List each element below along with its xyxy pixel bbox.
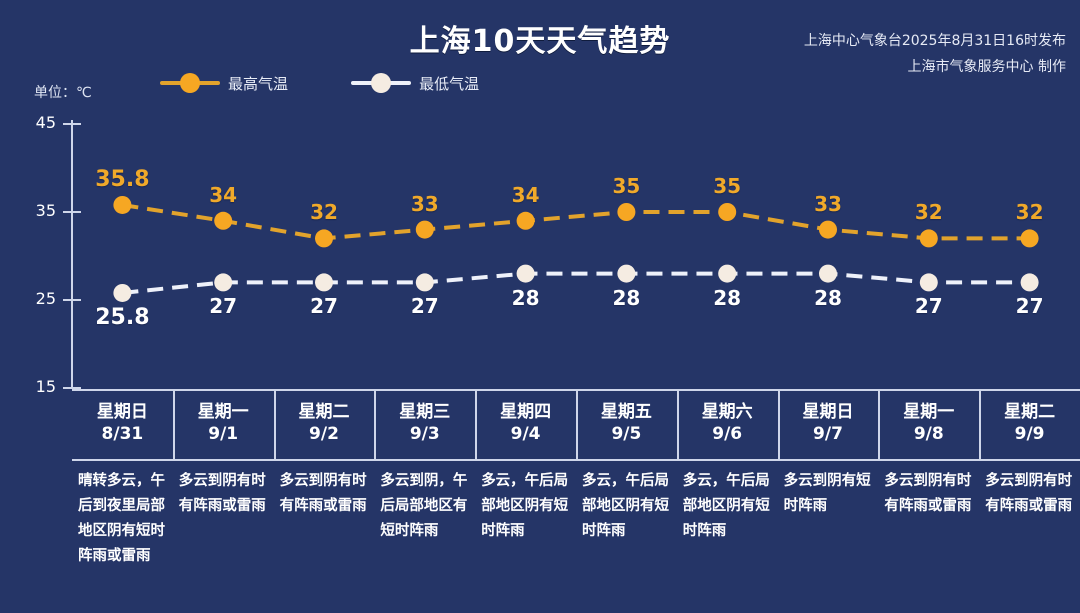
y-axis-tick-label: 25 [16,289,56,308]
point-value-min: 27 [385,294,465,318]
weekday-label: 星期三 [374,397,475,422]
point-value-min: 25.8 [82,305,162,330]
point-value-max: 35 [687,174,767,198]
point-value-max: 32 [990,200,1070,224]
forecast-column[interactable]: 星期一9/8多云到阴有时有阵雨或雷雨 [878,391,979,613]
data-point-max[interactable] [517,212,535,230]
weekday-label: 星期六 [677,397,778,422]
weekday-label: 星期二 [274,397,375,422]
data-point-max[interactable] [1021,229,1039,247]
weekday-label: 星期一 [878,397,979,422]
data-point-max[interactable] [315,229,333,247]
weather-description: 晴转多云，午后到夜里局部地区阴有短时阵雨或雷雨 [78,469,168,569]
data-point-max[interactable] [214,212,232,230]
weekday-label: 星期日 [778,397,879,422]
date-label: 9/5 [576,424,677,444]
point-value-min: 27 [990,294,1070,318]
point-value-max: 34 [486,183,566,207]
date-label: 9/2 [274,424,375,444]
data-point-max[interactable] [819,221,837,239]
y-axis-tick-label: 45 [16,113,56,132]
point-value-min: 28 [687,286,767,310]
data-point-min[interactable] [214,273,232,291]
point-value-min: 27 [889,294,969,318]
point-value-max: 33 [788,192,868,216]
date-label: 9/3 [374,424,475,444]
date-label: 9/8 [878,424,979,444]
date-label: 9/4 [475,424,576,444]
y-axis-tick-label: 15 [16,377,56,396]
weekday-label: 星期四 [475,397,576,422]
weather-trend-chart: 上海10天天气趋势 上海中心气象台2025年8月31日16时发布 上海市气象服务… [0,0,1080,613]
date-label: 8/31 [72,424,173,444]
point-value-max: 34 [183,183,263,207]
point-value-max: 35.8 [82,167,162,192]
data-point-min[interactable] [718,265,736,283]
date-label: 9/1 [173,424,274,444]
date-label: 9/7 [778,424,879,444]
weekday-label: 星期一 [173,397,274,422]
weather-description: 多云，午后局部地区阴有短时阵雨 [481,469,571,544]
data-point-min[interactable] [517,265,535,283]
point-value-min: 28 [486,286,566,310]
forecast-column[interactable]: 星期三9/3多云到阴，午后局部地区有短时阵雨 [374,391,475,613]
weather-description: 多云到阴有时有阵雨或雷雨 [179,469,269,519]
data-point-min[interactable] [1021,273,1039,291]
y-axis-tick-label: 35 [16,201,56,220]
data-point-max[interactable] [718,203,736,221]
data-point-max[interactable] [416,221,434,239]
weather-description: 多云到阴有时有阵雨或雷雨 [884,469,974,519]
weather-description: 多云，午后局部地区阴有短时阵雨 [683,469,773,544]
forecast-column[interactable]: 星期四9/4多云，午后局部地区阴有短时阵雨 [475,391,576,613]
weather-description: 多云到阴有短时阵雨 [784,469,874,519]
data-point-min[interactable] [416,273,434,291]
weather-description: 多云到阴有时有阵雨或雷雨 [985,469,1075,519]
weather-description: 多云到阴有时有阵雨或雷雨 [280,469,370,519]
point-value-min: 27 [284,294,364,318]
point-value-max: 32 [889,200,969,224]
point-value-max: 32 [284,200,364,224]
weather-description: 多云，午后局部地区阴有短时阵雨 [582,469,672,544]
point-value-min: 28 [788,286,868,310]
weekday-label: 星期二 [979,397,1080,422]
forecast-column[interactable]: 星期日8/31晴转多云，午后到夜里局部地区阴有短时阵雨或雷雨 [72,391,173,613]
data-point-max[interactable] [920,229,938,247]
forecast-column[interactable]: 星期二9/2多云到阴有时有阵雨或雷雨 [274,391,375,613]
forecast-table: 星期日8/31晴转多云，午后到夜里局部地区阴有短时阵雨或雷雨星期一9/1多云到阴… [72,389,1080,613]
data-point-min[interactable] [617,265,635,283]
forecast-column[interactable]: 星期二9/9多云到阴有时有阵雨或雷雨 [979,391,1080,613]
forecast-column[interactable]: 星期六9/6多云，午后局部地区阴有短时阵雨 [677,391,778,613]
data-point-min[interactable] [920,273,938,291]
weekday-label: 星期五 [576,397,677,422]
date-label: 9/9 [979,424,1080,444]
series-line-min [122,274,1029,293]
point-value-min: 28 [586,286,666,310]
data-point-min[interactable] [113,284,131,302]
data-point-max[interactable] [113,196,131,214]
point-value-max: 35 [586,174,666,198]
point-value-max: 33 [385,192,465,216]
forecast-column[interactable]: 星期一9/1多云到阴有时有阵雨或雷雨 [173,391,274,613]
weather-description: 多云到阴，午后局部地区有短时阵雨 [380,469,470,544]
point-value-min: 27 [183,294,263,318]
forecast-column[interactable]: 星期日9/7多云到阴有短时阵雨 [778,391,879,613]
date-label: 9/6 [677,424,778,444]
data-point-min[interactable] [819,265,837,283]
weekday-label: 星期日 [72,397,173,422]
data-point-min[interactable] [315,273,333,291]
forecast-column[interactable]: 星期五9/5多云，午后局部地区阴有短时阵雨 [576,391,677,613]
data-point-max[interactable] [617,203,635,221]
